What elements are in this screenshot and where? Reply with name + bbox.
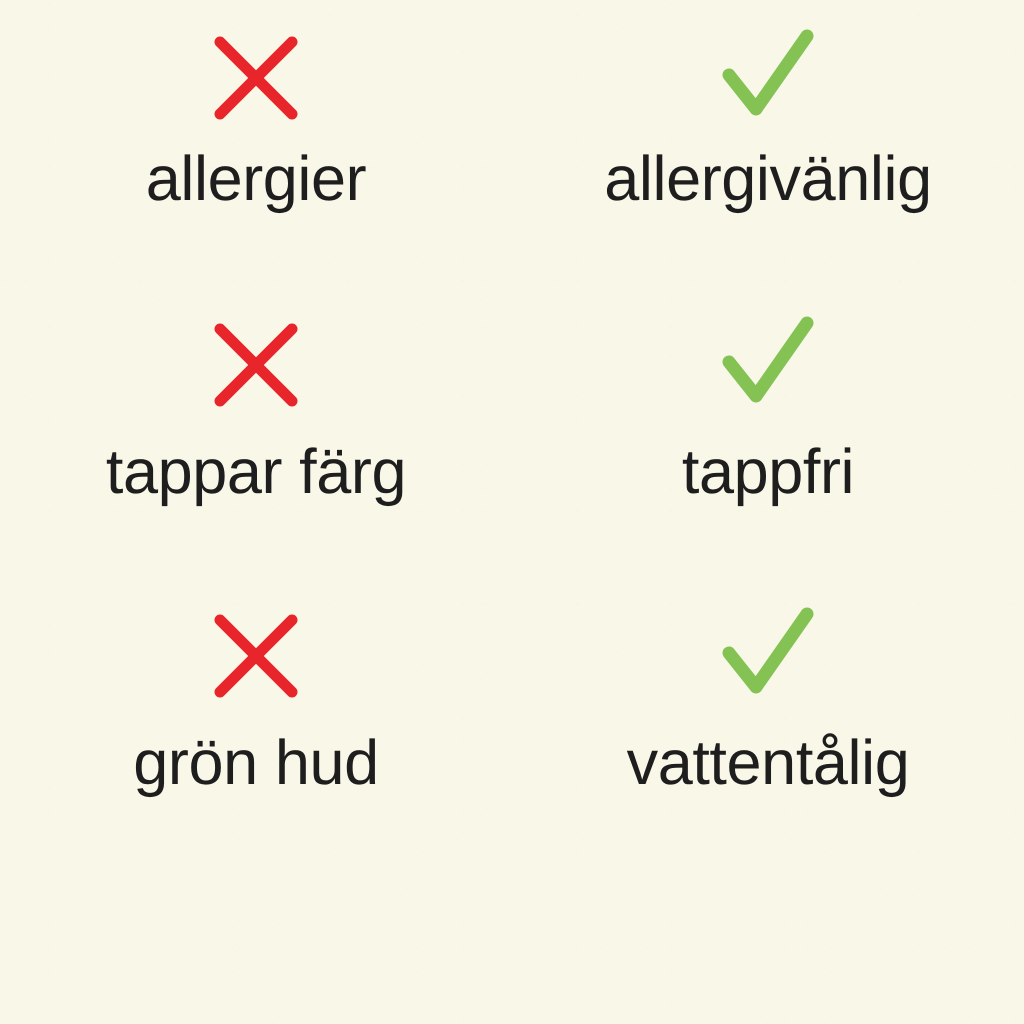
comparison-board: allergier allergivänlig tappar färg <box>0 0 1024 1024</box>
comparison-label: grön hud <box>133 732 379 795</box>
cross-icon <box>200 22 312 134</box>
comparison-cell-shedding-positive: tappfri <box>512 293 1024 586</box>
comparison-grid: allergier allergivänlig tappar färg <box>0 0 1024 880</box>
comparison-label: tappar färg <box>106 441 406 504</box>
check-icon <box>712 22 824 134</box>
comparison-label: allergier <box>146 148 367 211</box>
comparison-label: vattentålig <box>627 732 910 795</box>
comparison-cell-skin-negative: grön hud <box>0 586 512 880</box>
cross-icon <box>200 309 312 421</box>
comparison-cell-shedding-negative: tappar färg <box>0 293 512 586</box>
comparison-label: allergivänlig <box>604 148 932 211</box>
comparison-cell-allergy-positive: allergivänlig <box>512 0 1024 293</box>
cross-icon <box>200 600 312 712</box>
check-icon <box>712 309 824 421</box>
comparison-label: tappfri <box>682 441 854 504</box>
comparison-cell-allergy-negative: allergier <box>0 0 512 293</box>
check-icon <box>712 600 824 712</box>
comparison-cell-skin-positive: vattentålig <box>512 586 1024 880</box>
